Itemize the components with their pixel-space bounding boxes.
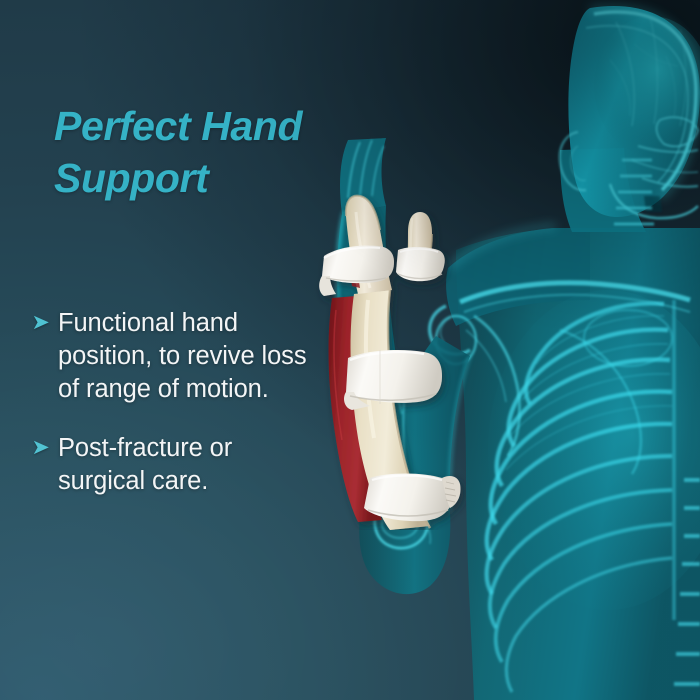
arrow-bullet-icon: ➤ — [31, 307, 58, 339]
list-item: ➤ Post-fracture or surgical care. — [32, 432, 307, 498]
arrow-bullet-icon: ➤ — [31, 432, 58, 464]
list-item-label: Post-fracture or surgical care. — [58, 432, 307, 498]
splint-strap-wrist — [344, 350, 442, 410]
text-panel: Perfect Hand Support ➤ Functional hand p… — [0, 0, 330, 700]
splint-strap-thumb — [396, 247, 445, 281]
page-title: Perfect Hand Support — [54, 100, 344, 204]
poster-canvas: Perfect Hand Support ➤ Functional hand p… — [0, 0, 700, 700]
list-item-label: Functional hand position, to revive loss… — [58, 307, 307, 406]
list-item: ➤ Functional hand position, to revive lo… — [32, 307, 307, 406]
benefits-list: ➤ Functional hand position, to revive lo… — [32, 307, 307, 524]
splint-strap-proximal — [364, 474, 461, 522]
